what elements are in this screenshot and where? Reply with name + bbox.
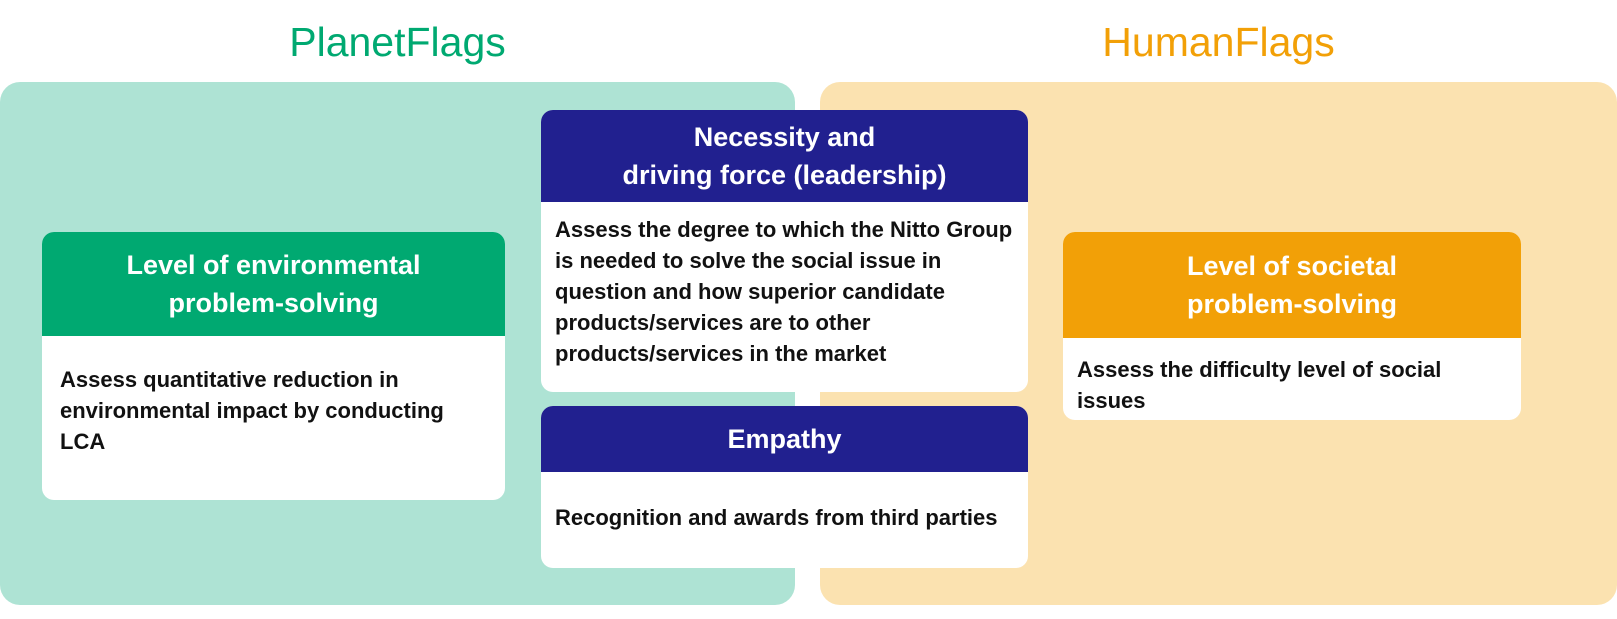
card-header-line-1: Level of societal (1187, 247, 1397, 285)
card-environmental-problem-solving: Level of environmental problem-solving A… (42, 232, 505, 500)
card-necessity-and-driving-force-body: Assess the degree to which the Nitto Gro… (541, 202, 1028, 392)
card-empathy-header: Empathy (541, 406, 1028, 472)
card-societal-problem-solving-header: Level of societal problem-solving (1063, 232, 1521, 338)
card-header-line-2: problem-solving (1187, 285, 1397, 323)
card-empathy: Empathy Recognition and awards from thir… (541, 406, 1028, 568)
card-header-line-1: Empathy (727, 420, 841, 458)
card-societal-problem-solving-body: Assess the difficulty level of social is… (1063, 338, 1521, 420)
card-empathy-body: Recognition and awards from third partie… (541, 472, 1028, 568)
card-environmental-problem-solving-header: Level of environmental problem-solving (42, 232, 505, 336)
card-header-line-1: Necessity and (694, 118, 876, 156)
diagram-canvas: PlanetFlags HumanFlags Level of environm… (0, 0, 1617, 619)
card-header-line-2: problem-solving (168, 284, 378, 322)
card-societal-problem-solving: Level of societal problem-solving Assess… (1063, 232, 1521, 420)
card-header-line-2: driving force (leadership) (622, 156, 946, 194)
card-necessity-and-driving-force-header: Necessity and driving force (leadership) (541, 110, 1028, 202)
card-necessity-and-driving-force: Necessity and driving force (leadership)… (541, 110, 1028, 392)
card-environmental-problem-solving-body: Assess quantitative reduction in environ… (42, 336, 505, 500)
planetflags-title: PlanetFlags (0, 14, 795, 70)
humanflags-title: HumanFlags (820, 14, 1617, 70)
card-header-line-1: Level of environmental (126, 246, 420, 284)
